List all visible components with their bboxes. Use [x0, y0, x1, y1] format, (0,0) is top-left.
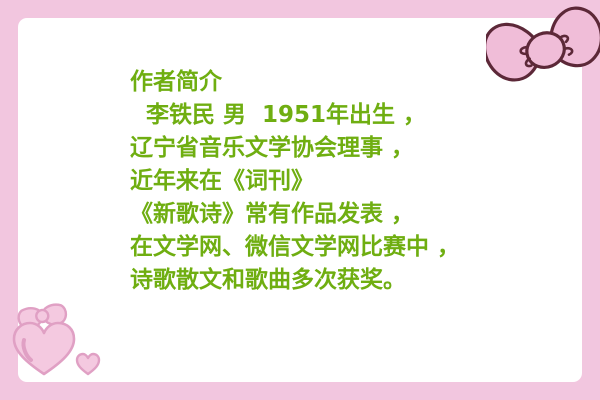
- bio-line-awards: 诗歌散文和歌曲多次获奖。: [130, 264, 510, 297]
- bio-line-heading: 作者简介: [130, 66, 510, 99]
- bio-line-affiliation: 辽宁省音乐文学协会理事 ，: [130, 132, 510, 165]
- bio-card: 作者简介 李铁民 男 1951年出生 ， 辽宁省音乐文学协会理事 ， 近年来在《…: [0, 0, 600, 400]
- bio-line-publication-1: 近年来在《词刊》: [130, 165, 510, 198]
- bio-line-competitions: 在文学网、微信文学网比赛中 ，: [130, 231, 510, 264]
- bio-line-publication-2: 《新歌诗》常有作品发表 ，: [130, 198, 510, 231]
- bio-line-identity: 李铁民 男 1951年出生 ，: [130, 99, 510, 132]
- author-bio-text-block: 作者简介 李铁民 男 1951年出生 ， 辽宁省音乐文学协会理事 ， 近年来在《…: [130, 66, 510, 297]
